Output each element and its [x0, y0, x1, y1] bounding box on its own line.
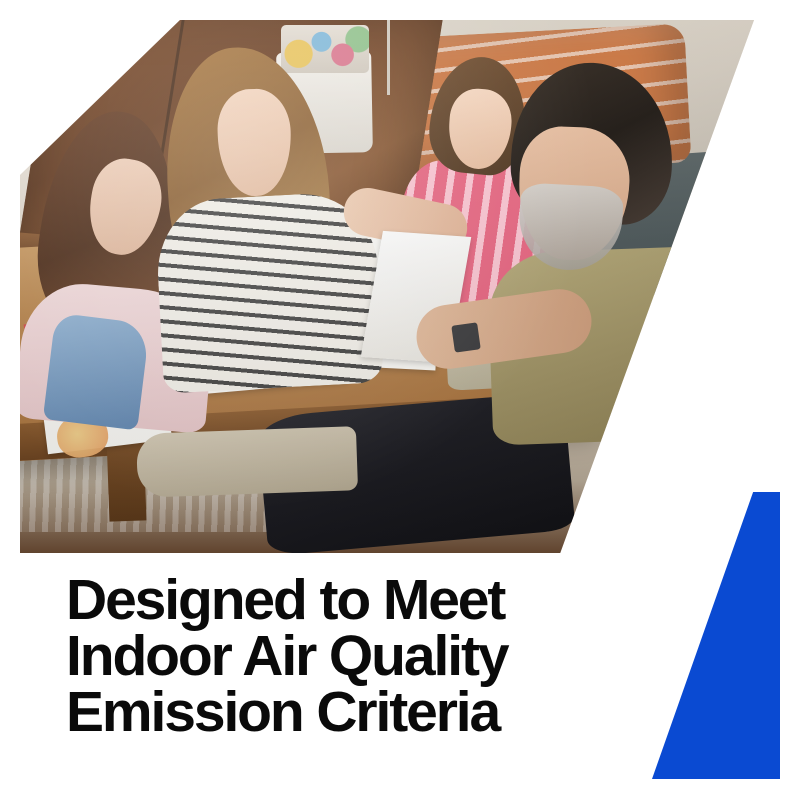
headline-line-2: Indoor Air Quality	[66, 628, 666, 684]
marketing-banner: Designed to Meet Indoor Air Quality Emis…	[0, 0, 800, 800]
headline-line-3: Emission Criteria	[66, 684, 666, 740]
blue-accent-wedge	[652, 492, 780, 779]
headline-line-1: Designed to Meet	[66, 572, 666, 628]
girl-overalls	[43, 313, 151, 430]
basket-contents	[281, 25, 369, 73]
lamp-stand	[387, 20, 390, 95]
father-leg	[136, 427, 358, 499]
photo-canvas	[20, 20, 754, 553]
wristwatch	[451, 322, 480, 352]
headline: Designed to Meet Indoor Air Quality Emis…	[66, 572, 666, 740]
family-craft-photo	[20, 20, 754, 553]
